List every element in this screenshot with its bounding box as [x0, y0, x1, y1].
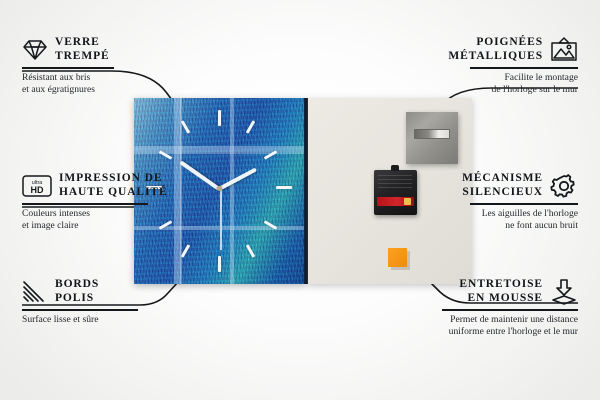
- movement-label: [378, 175, 412, 191]
- callout-title: MÉCANISME SILENCIEUX: [462, 172, 543, 199]
- battery-terminal: [404, 198, 411, 205]
- hour-hand: [218, 168, 257, 191]
- infographic-canvas: VERRE TREMPÉ Résistant aux bris et aux é…: [0, 0, 600, 400]
- callout-poignees-metalliques: POIGNÉES MÉTALLIQUES Facilite le montage…: [428, 36, 578, 96]
- face-grid-line: [134, 146, 306, 152]
- callout-rule: [22, 203, 148, 205]
- minute-hand: [179, 160, 220, 190]
- hour-tick: [264, 150, 278, 160]
- svg-text:HD: HD: [31, 185, 44, 195]
- hour-tick: [159, 150, 173, 160]
- quartz-movement-box: [374, 170, 417, 215]
- ultra-hd-badge-icon: ultra HD: [22, 174, 52, 198]
- battery: [377, 197, 414, 206]
- hand-hub: [217, 186, 222, 191]
- face-grid-line: [230, 98, 234, 284]
- hour-tick: [181, 244, 191, 258]
- hanging-picture-frame-icon: [550, 37, 578, 63]
- arrow-down-onto-layer-icon: [550, 279, 578, 305]
- callout-description: Résistant aux bris et aux égratignures: [22, 72, 172, 96]
- callout-rule: [442, 309, 578, 311]
- callout-impression-haute-qualite: ultra HD IMPRESSION DE HAUTE QUALITÉ Cou…: [22, 172, 182, 232]
- callout-rule: [22, 67, 114, 69]
- callout-entretoise-en-mousse: ENTRETOISE EN MOUSSE Permet de maintenir…: [418, 278, 578, 338]
- callout-description: Facilite le montage de l'horloge sur le …: [428, 72, 578, 96]
- polished-edge-lines-icon: [22, 280, 48, 304]
- callout-title: BORDS POLIS: [55, 278, 99, 305]
- hour-tick: [276, 186, 292, 189]
- callout-description: Couleurs intenses et image claire: [22, 208, 182, 232]
- callout-title: VERRE TREMPÉ: [55, 36, 110, 63]
- callout-mecanisme-silencieux: MÉCANISME SILENCIEUX Les aiguilles de l'…: [428, 172, 578, 232]
- foam-spacer: [388, 248, 407, 267]
- callout-title: POIGNÉES MÉTALLIQUES: [448, 36, 543, 63]
- callout-rule: [470, 67, 578, 69]
- callout-description: Surface lisse et sûre: [22, 314, 172, 326]
- callout-rule: [470, 203, 578, 205]
- hour-tick: [218, 110, 221, 126]
- metal-hanging-bracket: [406, 112, 458, 164]
- hour-tick: [264, 220, 278, 230]
- callout-verre-trempe: VERRE TREMPÉ Résistant aux bris et aux é…: [22, 36, 172, 96]
- callout-bords-polis: BORDS POLIS Surface lisse et sûre: [22, 278, 172, 326]
- hour-tick: [246, 120, 256, 134]
- callout-description: Les aiguilles de l'horloge ne font aucun…: [428, 208, 578, 232]
- callout-rule: [22, 309, 138, 311]
- bracket-slot: [414, 129, 450, 139]
- hour-tick: [246, 244, 256, 258]
- hour-tick: [218, 256, 221, 272]
- diamond-icon: [22, 38, 48, 62]
- callout-title: IMPRESSION DE HAUTE QUALITÉ: [59, 172, 168, 199]
- gear-icon: [550, 173, 578, 199]
- hour-tick: [181, 120, 191, 134]
- callout-description: Permet de maintenir une distance uniform…: [418, 314, 578, 338]
- callout-title: ENTRETOISE EN MOUSSE: [459, 278, 543, 305]
- movement-shaft: [391, 165, 399, 171]
- second-hand: [220, 188, 222, 250]
